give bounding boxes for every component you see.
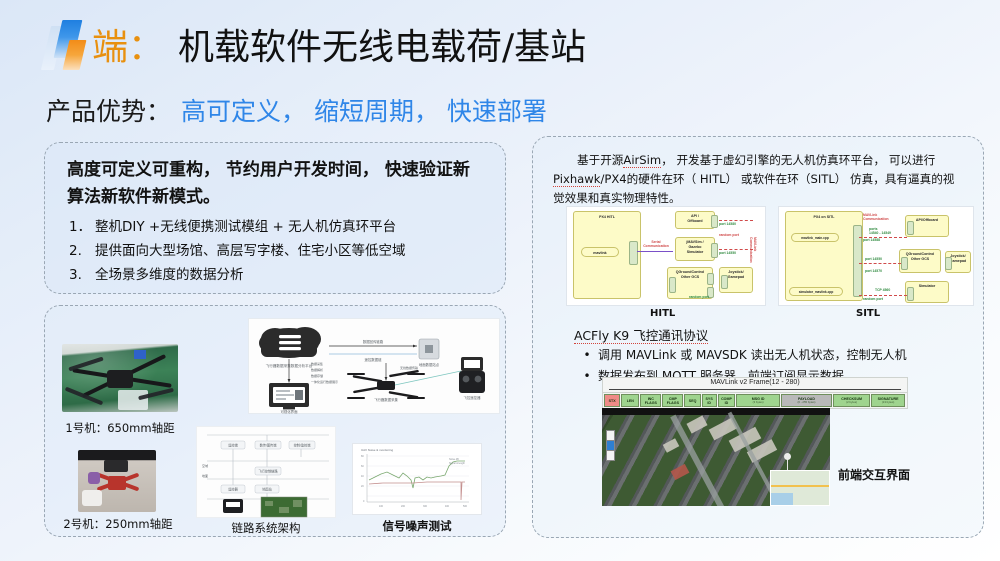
mavlink-frame-cell-name: SEQ — [689, 399, 697, 403]
svg-text:数据回传链路: 数据回传链路 — [363, 339, 384, 344]
diagram-link-architecture: 飞行器数据采集数据分析平台 数据回传链路 遥控数据链 地面数据站点 数据采集 数… — [248, 318, 500, 414]
hitl-node-api-offboard: API /Offboard — [675, 211, 715, 229]
slide-root: 端： 机载软件无线电载荷/基站 产品优势： 高可定义， 缩短周期， 快速部署 高… — [0, 0, 1000, 561]
hitl-wire — [637, 251, 673, 252]
paragraph-part: /PX4的硬件在环（ HITL） 或软件在环（SITL） 仿真，具有逼真的视觉效… — [553, 172, 954, 205]
svg-text:无线数据传输: 无线数据传输 — [400, 365, 418, 370]
mavlink-frame-cell: INCFLAGS — [640, 394, 661, 407]
mavlink-frame-cell-name: CMPFLAGS — [667, 397, 679, 405]
svg-text:UAV Noise & monitoring: UAV Noise & monitoring — [361, 448, 393, 452]
signal-noise-svg: UAV Noise & monitoring 806040200 1002003… — [353, 444, 483, 516]
hitl-wire-red — [719, 220, 753, 221]
svg-text:地面: 地面 — [202, 473, 208, 478]
svg-text:100: 100 — [379, 505, 384, 508]
list-item-number: 2. — [69, 239, 95, 263]
mavlink-frame-cell: PAYLOAD(0 - 255 bytes) — [781, 394, 832, 407]
left-summary-card: 高度可定义可重构， 节约用户开发时间， 快速验证新算法新软件新模式。 1． 整机… — [44, 142, 506, 294]
list-item: • 调用 MAVLink 或 MAVSDK 读出无人机状态，控制无人机 — [576, 345, 976, 366]
hitl-port — [711, 243, 718, 258]
minimap-road — [771, 485, 829, 487]
svg-text:遥控数据链: 遥控数据链 — [365, 357, 383, 362]
mavlink-frame-span-arrow — [602, 387, 908, 392]
photo-detail — [82, 490, 102, 506]
paragraph-part: 基于开源 — [577, 153, 623, 167]
mavlink-frame-cell-bytes: (13 bytes) — [882, 401, 894, 404]
photo-detail — [108, 476, 126, 490]
diagram-hitl-caption: HITL — [650, 308, 675, 319]
svg-text:地面站: 地面站 — [262, 487, 272, 492]
mavlink-frame-cell-name: SYSID — [706, 397, 713, 405]
hitl-port — [669, 277, 676, 293]
link-architecture-svg: 飞行器数据采集数据分析平台 数据回传链路 遥控数据链 地面数据站点 数据采集 数… — [249, 319, 501, 415]
map-toolbar[interactable] — [602, 408, 830, 415]
hitl-node-jmavsim: jMAVSim /GazeboSimulator — [675, 237, 715, 261]
svg-text:Signal strength: Signal strength — [449, 462, 466, 465]
diagram-sitl-caption: SITL — [856, 308, 880, 319]
photo-detail — [68, 357, 103, 372]
sitl-node-mavlink-main: mavlink_main.cpp — [791, 233, 839, 242]
right-subheading: ACFly K9 飞控通讯协议 — [574, 325, 708, 344]
svg-text:400: 400 — [445, 505, 450, 508]
hitl-port — [711, 215, 718, 228]
mavlink-frame-cell-bytes: (2 bytes) — [846, 401, 857, 404]
sitl-wire-red — [859, 263, 901, 264]
sitl-ports-label: ports14540 - 14549 — [869, 227, 891, 235]
photo-detail — [104, 460, 128, 472]
sitl-comm-label: MAVLinkCommunication — [863, 213, 889, 221]
list-item: 2. 提供面向大型场馆、高层写字楼、住宅小区等低空域 — [69, 239, 489, 263]
diagram-hitl: PX4 HITL mavlink SerialCommunication API… — [566, 206, 766, 306]
svg-text:遥控端: 遥控端 — [228, 443, 238, 448]
list-item: 3. 全场景多维度的数据分析 — [69, 263, 489, 287]
list-item-label: 整机DIY +无线便携测试模组 + 无人机仿真环平台 — [95, 215, 396, 239]
title-main: 机载软件无线电载荷/基站 — [178, 18, 586, 70]
mavlink-frame-cell: MSG ID(3 bytes) — [736, 394, 779, 407]
hitl-mavlink-label: mavlink — [593, 251, 606, 255]
mavlink-frame-cell-name: LEN — [627, 399, 634, 403]
svg-text:数据采集: 数据采集 — [311, 361, 323, 366]
mavlink-frame-cell: STX — [604, 394, 620, 407]
sitl-port-label: TCP 4560 — [875, 288, 890, 292]
photo-drone-250mm — [78, 450, 156, 512]
photo-detail — [118, 390, 148, 410]
subtitle-value: 高可定义， 缩短周期， 快速部署 — [181, 92, 547, 128]
hitl-mavlink-node: mavlink — [581, 247, 619, 257]
diagram-system-architecture: 遥控端 数传/图传端 控制/监控端 飞行控制链路 遥控器 地面站 空域 地面 — [196, 426, 336, 518]
svg-text:Noise dB: Noise dB — [449, 458, 459, 461]
map-minimap[interactable] — [770, 470, 830, 506]
photo-drone-650mm — [62, 344, 178, 412]
map-satellite-view[interactable] — [602, 408, 830, 506]
sitl-port-label: port 14550 — [865, 257, 882, 261]
svg-text:500: 500 — [463, 505, 468, 508]
map-building — [671, 464, 690, 480]
sitl-port — [907, 287, 914, 301]
map-building — [686, 415, 707, 433]
hitl-px4-label: PX4 HITL — [599, 215, 615, 219]
bullet-dot: • — [576, 366, 598, 387]
photo-detail — [107, 370, 133, 388]
mavlink-frame-cell: SIGNATURE(13 bytes) — [871, 394, 905, 407]
right-paragraph: 基于开源AirSim， 开发基于虚幻引擎的无人机仿真环平台， 可以进行Pixha… — [553, 151, 963, 208]
mavlink-frame-cell-name: STX — [609, 399, 616, 403]
mavlink-frame-cell-bytes: (3 bytes) — [753, 401, 764, 404]
svg-text:数据存储: 数据存储 — [311, 373, 323, 378]
svg-text:200: 200 — [401, 505, 406, 508]
photo-detail — [88, 472, 100, 484]
sitl-port — [907, 221, 914, 235]
svg-text:数传/图传端: 数传/图传端 — [260, 443, 278, 448]
page-title: 端： 机载软件无线电载荷/基站 — [92, 18, 586, 70]
chart-signal-noise: UAV Noise & monitoring 806040200 1002003… — [352, 443, 482, 515]
sitl-port-label: port 14570 — [865, 269, 882, 273]
sitl-px4-label: PX4 on SITL — [814, 215, 835, 219]
hitl-port-label: port 14580 — [719, 222, 736, 226]
mavlink-frame-cell: CMPFLAGS — [662, 394, 683, 407]
mavlink-frame-title: MAVLink v2 Frame(12 - 280) — [602, 377, 908, 387]
map-zoom-out-button[interactable] — [606, 450, 615, 461]
sitl-node-label: simulator_mavlink.cpp — [799, 290, 834, 294]
left-headline: 高度可定义可重构， 节约用户开发时间， 快速验证新算法新软件新模式。 — [67, 157, 483, 211]
mavlink-frame-cell-bytes: (0 - 255 bytes) — [797, 401, 815, 404]
sitl-port-bus — [853, 225, 862, 297]
hitl-port-label: random port — [689, 295, 709, 299]
svg-text:300: 300 — [423, 505, 428, 508]
paragraph-part-spellflag: Pixhawk — [553, 172, 600, 187]
diagram-mavlink-frame: MAVLink v2 Frame(12 - 280) STXLENINCFLAG… — [602, 377, 908, 409]
mavlink-frame-cell: CHECKSUM(2 bytes) — [833, 394, 870, 407]
sitl-port — [901, 257, 908, 270]
list-item-number: 3. — [69, 263, 95, 287]
system-architecture-svg: 遥控端 数传/图传端 控制/监控端 飞行控制链路 遥控器 地面站 空域 地面 — [197, 427, 337, 519]
sitl-port-label: port 14588 — [863, 238, 880, 242]
left-advantage-list: 1． 整机DIY +无线便携测试模组 + 无人机仿真环平台 2. 提供面向大型场… — [69, 215, 489, 287]
svg-text:遥控器: 遥控器 — [228, 487, 238, 492]
sitl-node-label: mavlink_main.cpp — [801, 236, 829, 240]
sitl-port-label: random port — [863, 297, 883, 301]
paragraph-part: ， 开发基于虚幻引擎的无人机仿真环平台， 可以进行 — [661, 153, 935, 167]
svg-text:60: 60 — [361, 465, 364, 468]
svg-text:飞行控制链路: 飞行控制链路 — [258, 469, 278, 474]
mavlink-frame-cell: SEQ — [684, 394, 700, 407]
mavlink-frame-cell-name: INCFLAGS — [645, 397, 657, 405]
mavlink-frame-cell-name: COMPID — [721, 397, 732, 405]
sitl-wire-red — [859, 295, 907, 296]
svg-text:飞控遥控器: 飞控遥控器 — [464, 395, 482, 400]
svg-text:0: 0 — [363, 500, 365, 503]
brand-logo-icon — [44, 20, 90, 70]
right-subheading-label: ACFly K9 飞控通讯协议 — [574, 328, 708, 344]
hitl-port-label: port 14550 — [719, 251, 736, 255]
list-item: 1． 整机DIY +无线便携测试模组 + 无人机仿真环平台 — [69, 215, 489, 239]
svg-text:80: 80 — [361, 455, 364, 458]
hitl-wire-red — [719, 249, 753, 250]
sitl-port — [945, 257, 952, 270]
svg-text:数据解析: 数据解析 — [311, 367, 323, 372]
svg-text:一体化运行数据展示: 一体化运行数据展示 — [311, 379, 338, 384]
svg-text:20: 20 — [361, 485, 364, 488]
title-tag: 端： — [92, 18, 164, 70]
list-item-label: 全场景多维度的数据分析 — [95, 263, 244, 287]
subtitle-label: 产品优势： — [46, 92, 171, 128]
svg-text:40: 40 — [361, 475, 364, 478]
hitl-serial-label: SerialCommunication — [639, 240, 673, 248]
hitl-port — [707, 273, 714, 285]
list-item-number: 1． — [69, 215, 95, 239]
photo-drone-250mm-caption: 2号机：250mm轴距 — [58, 516, 178, 532]
hitl-port-label: random port — [719, 233, 739, 237]
paragraph-part-spellflag: AirSim — [623, 153, 661, 168]
subtitle: 产品优势： 高可定义， 缩短周期， 快速部署 — [46, 92, 547, 128]
list-item-label: 提供面向大型场馆、高层写字楼、住宅小区等低空域 — [95, 239, 406, 263]
svg-text:控制/监控端: 控制/监控端 — [294, 443, 312, 448]
map-caption: 前端交互界面 — [838, 466, 910, 483]
mavlink-frame-cell: LEN — [621, 394, 639, 407]
svg-text:飞行器数据采集: 飞行器数据采集 — [374, 397, 398, 402]
photo-drone-650mm-caption: 1号机：650mm轴距 — [62, 420, 178, 436]
hitl-port — [721, 275, 728, 289]
svg-text:空域: 空域 — [202, 463, 208, 468]
svg-text:地面数据站点: 地面数据站点 — [419, 362, 440, 367]
bullet-dot: • — [576, 345, 598, 366]
photo-detail — [134, 350, 146, 359]
mavlink-frame-cells: STXLENINCFLAGSCMPFLAGSSEQSYSIDCOMPIDMSG … — [602, 392, 908, 409]
diagram-sitl: PX4 on SITL mavlink_main.cpp simulator_m… — [778, 206, 974, 306]
hitl-port — [629, 241, 638, 265]
diagram-link-architecture-caption: 链路系统架构 — [196, 520, 336, 536]
sitl-node-simulator-mavlink: simulator_mavlink.cpp — [789, 287, 843, 296]
map-building — [663, 438, 680, 453]
minimap-water — [771, 493, 793, 505]
mavlink-frame-cell: COMPID — [718, 394, 736, 407]
mavlink-frame-cell: SYSID — [702, 394, 717, 407]
chart-signal-noise-caption: 信号噪声测试 — [352, 518, 482, 534]
hitl-mavlink-comm-label: MAVLinkCommunication — [749, 237, 757, 287]
bullet-label: 调用 MAVLink 或 MAVSDK 读出无人机状态，控制无人机 — [598, 345, 907, 366]
svg-text:可视化界面: 可视化界面 — [281, 409, 299, 414]
map-terrain — [602, 415, 830, 506]
